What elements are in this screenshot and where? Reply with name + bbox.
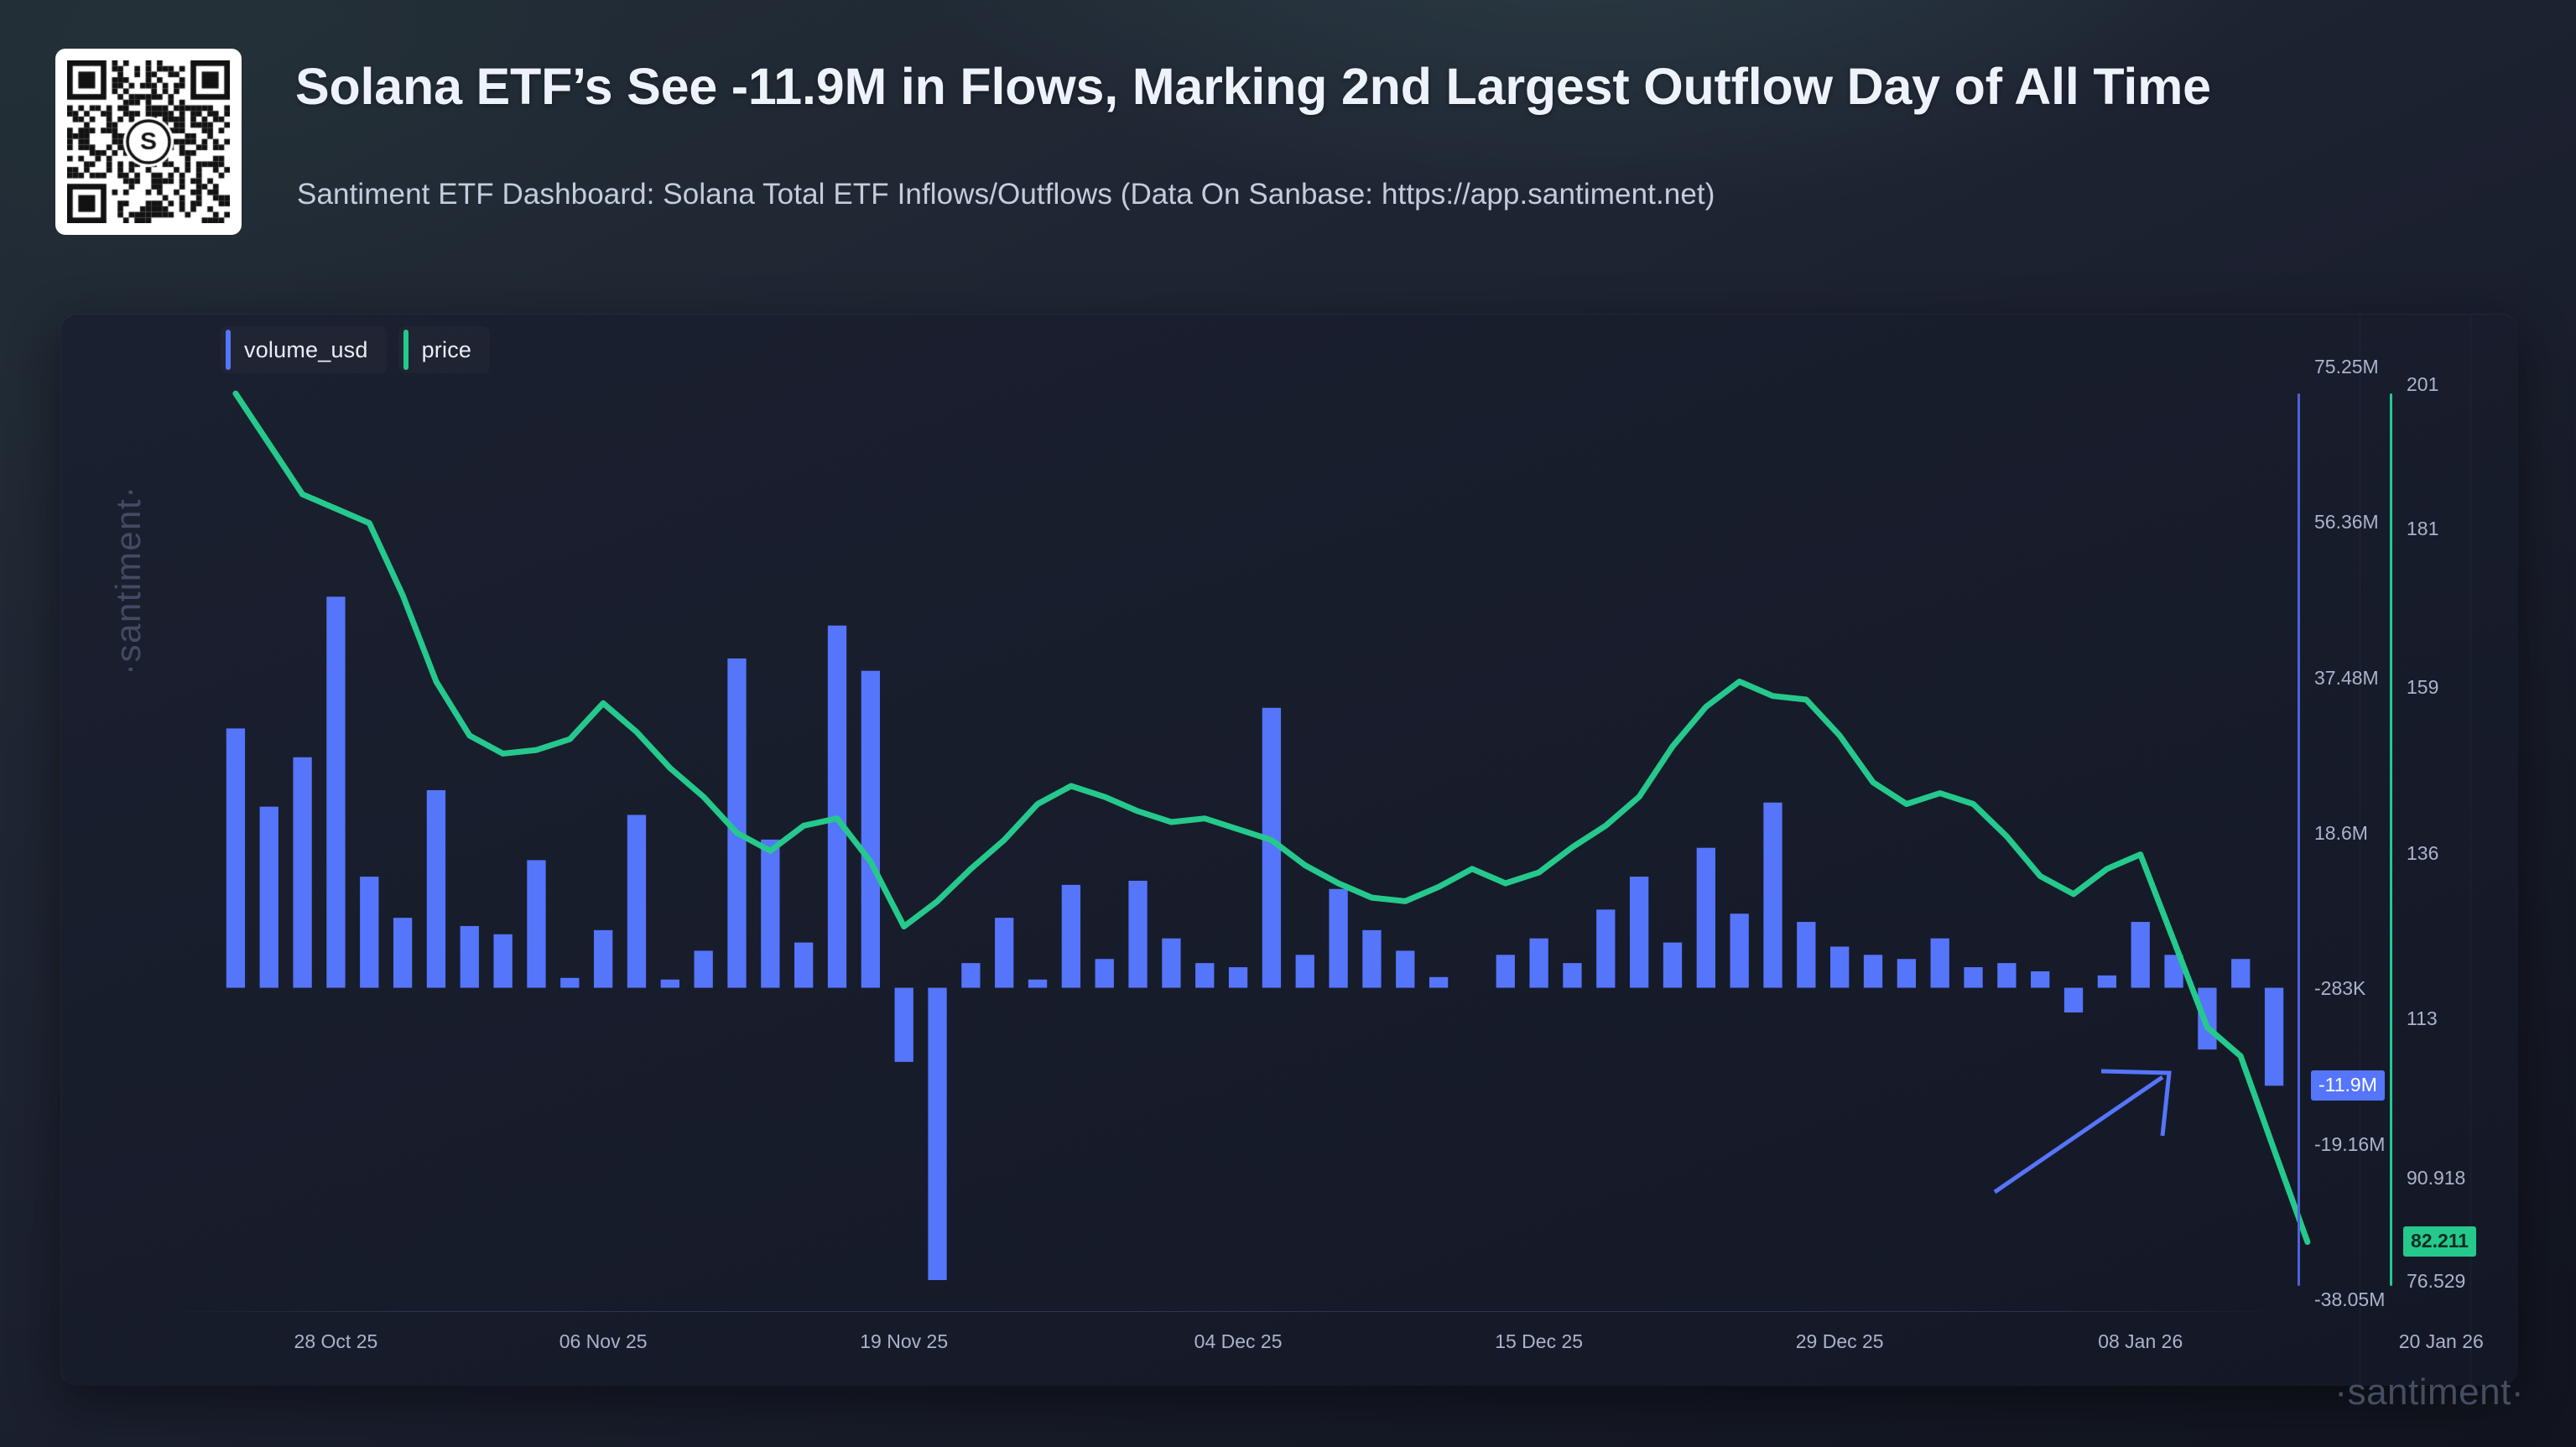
bar[interactable] xyxy=(1329,889,1347,988)
bar[interactable] xyxy=(560,978,579,988)
volume-axis-tick: 56.36M xyxy=(2314,511,2379,534)
volume-axis-line xyxy=(2298,393,2300,1286)
bar[interactable] xyxy=(794,943,813,988)
legend-swatch-price xyxy=(403,330,409,370)
volume-current-value-badge: -11.9M xyxy=(2311,1070,2385,1101)
bar[interactable] xyxy=(1931,939,1949,988)
bar[interactable] xyxy=(761,840,779,988)
volume-axis-tick: -19.16M xyxy=(2314,1133,2385,1156)
bar[interactable] xyxy=(2265,988,2283,1086)
bar[interactable] xyxy=(1630,877,1648,988)
bar[interactable] xyxy=(1095,959,1114,987)
price-axis-tick: 113 xyxy=(2407,1007,2438,1030)
bar[interactable] xyxy=(2064,988,2083,1012)
volume-axis-tick: -283K xyxy=(2314,977,2365,1000)
price-axis-tick: 136 xyxy=(2407,842,2438,865)
legend-swatch-volume-usd xyxy=(226,330,231,370)
bar[interactable] xyxy=(661,980,679,988)
x-axis-tick-label: 28 Oct 25 xyxy=(294,1330,378,1353)
bar[interactable] xyxy=(427,790,445,988)
bar[interactable] xyxy=(326,596,345,987)
page-title: Solana ETF’s See -11.9M in Flows, Markin… xyxy=(295,57,2211,116)
bar[interactable] xyxy=(1396,950,1414,987)
bar[interactable] xyxy=(393,918,412,987)
legend-label-price: price xyxy=(422,337,472,363)
bar[interactable] xyxy=(1296,955,1314,987)
bar[interactable] xyxy=(1730,913,1749,987)
panel-separator xyxy=(2360,315,2360,1386)
bar[interactable] xyxy=(1128,881,1147,988)
x-axis-baseline xyxy=(162,1311,2284,1312)
santiment-side-watermark: ·santiment· xyxy=(108,485,148,675)
chart-legend: volume_usd price xyxy=(221,326,490,373)
price-axis-tick: 159 xyxy=(2407,676,2438,699)
bar[interactable] xyxy=(995,918,1013,987)
bar[interactable] xyxy=(1162,939,1180,988)
qr-code-icon[interactable] xyxy=(55,49,242,235)
bar[interactable] xyxy=(1763,803,1782,988)
x-axis-tick-label: 19 Nov 25 xyxy=(860,1330,948,1353)
volume-axis-tick: 75.25M xyxy=(2314,356,2379,378)
price-axis-tick: 181 xyxy=(2407,518,2438,540)
bar[interactable] xyxy=(1429,977,1448,988)
bar[interactable] xyxy=(527,860,545,987)
bar[interactable] xyxy=(1697,848,1715,988)
bar[interactable] xyxy=(226,728,245,987)
volume-axis-tick: 37.48M xyxy=(2314,667,2379,690)
bar[interactable] xyxy=(2231,959,2250,987)
bar[interactable] xyxy=(1797,922,1815,988)
bar[interactable] xyxy=(293,757,311,988)
bar[interactable] xyxy=(2098,976,2116,988)
x-axis-tick-label: 08 Jan 26 xyxy=(2098,1330,2183,1353)
bar[interactable] xyxy=(1864,955,1882,987)
bar[interactable] xyxy=(1529,939,1548,988)
bar[interactable] xyxy=(627,815,646,987)
bar[interactable] xyxy=(2031,971,2049,988)
bar[interactable] xyxy=(1997,963,2016,987)
bar[interactable] xyxy=(1964,967,1982,988)
bar[interactable] xyxy=(1596,909,1615,987)
bar[interactable] xyxy=(461,926,479,988)
price-axis-tick: 90.918 xyxy=(2407,1167,2465,1189)
chart-svg xyxy=(219,368,2291,1301)
x-axis-tick-label: 15 Dec 25 xyxy=(1495,1330,1583,1353)
bar[interactable] xyxy=(1062,885,1080,988)
x-axis-tick-label: 04 Dec 25 xyxy=(1194,1330,1283,1353)
bar[interactable] xyxy=(895,988,913,1062)
price-current-value-badge: 82.211 xyxy=(2403,1226,2476,1257)
bar[interactable] xyxy=(1897,959,1916,987)
bar[interactable] xyxy=(1362,930,1381,988)
bar[interactable] xyxy=(1830,946,1849,987)
plot-area xyxy=(219,368,2291,1301)
bar[interactable] xyxy=(493,934,512,988)
bar[interactable] xyxy=(695,950,713,987)
panel-separator xyxy=(2470,315,2471,1386)
bar[interactable] xyxy=(360,877,378,988)
legend-item-price[interactable]: price xyxy=(398,326,491,373)
chart-panel: volume_usd price ·santiment· 75.25M56.36… xyxy=(60,314,2518,1386)
qr-code-canvas xyxy=(67,60,230,223)
santiment-footer-watermark: ·santiment· xyxy=(2334,1372,2524,1413)
bar[interactable] xyxy=(1663,943,1682,988)
bar[interactable] xyxy=(1563,963,1581,987)
bar[interactable] xyxy=(861,671,880,988)
header: Solana ETF’s See -11.9M in Flows, Markin… xyxy=(0,0,2576,294)
price-axis-line xyxy=(2390,393,2392,1286)
x-axis-tick-label: 29 Dec 25 xyxy=(1796,1330,1884,1353)
bar[interactable] xyxy=(928,988,946,1280)
annotation-arrow-icon xyxy=(1995,1071,2169,1192)
bar[interactable] xyxy=(260,807,278,988)
x-axis-tick-label: 20 Jan 26 xyxy=(2399,1330,2484,1353)
legend-item-volume-usd[interactable]: volume_usd xyxy=(221,326,387,373)
bar[interactable] xyxy=(961,963,980,987)
price-axis-tick: 201 xyxy=(2407,373,2438,396)
volume-axis-tick: 18.6M xyxy=(2314,822,2368,845)
bar[interactable] xyxy=(1028,980,1047,988)
page-subtitle: Santiment ETF Dashboard: Solana Total ET… xyxy=(297,178,1715,211)
bar[interactable] xyxy=(2131,922,2150,988)
x-axis-tick-label: 06 Nov 25 xyxy=(559,1330,648,1353)
legend-label-volume-usd: volume_usd xyxy=(244,337,368,363)
bars-group xyxy=(226,596,2283,1280)
bar[interactable] xyxy=(1229,967,1247,988)
volume-axis-tick: -38.05M xyxy=(2314,1288,2385,1311)
bar[interactable] xyxy=(1195,963,1214,987)
bar[interactable] xyxy=(1496,955,1515,987)
bar[interactable] xyxy=(2198,988,2216,1050)
bar[interactable] xyxy=(828,626,846,988)
bar[interactable] xyxy=(594,930,612,988)
price-axis-tick: 76.529 xyxy=(2407,1270,2465,1293)
